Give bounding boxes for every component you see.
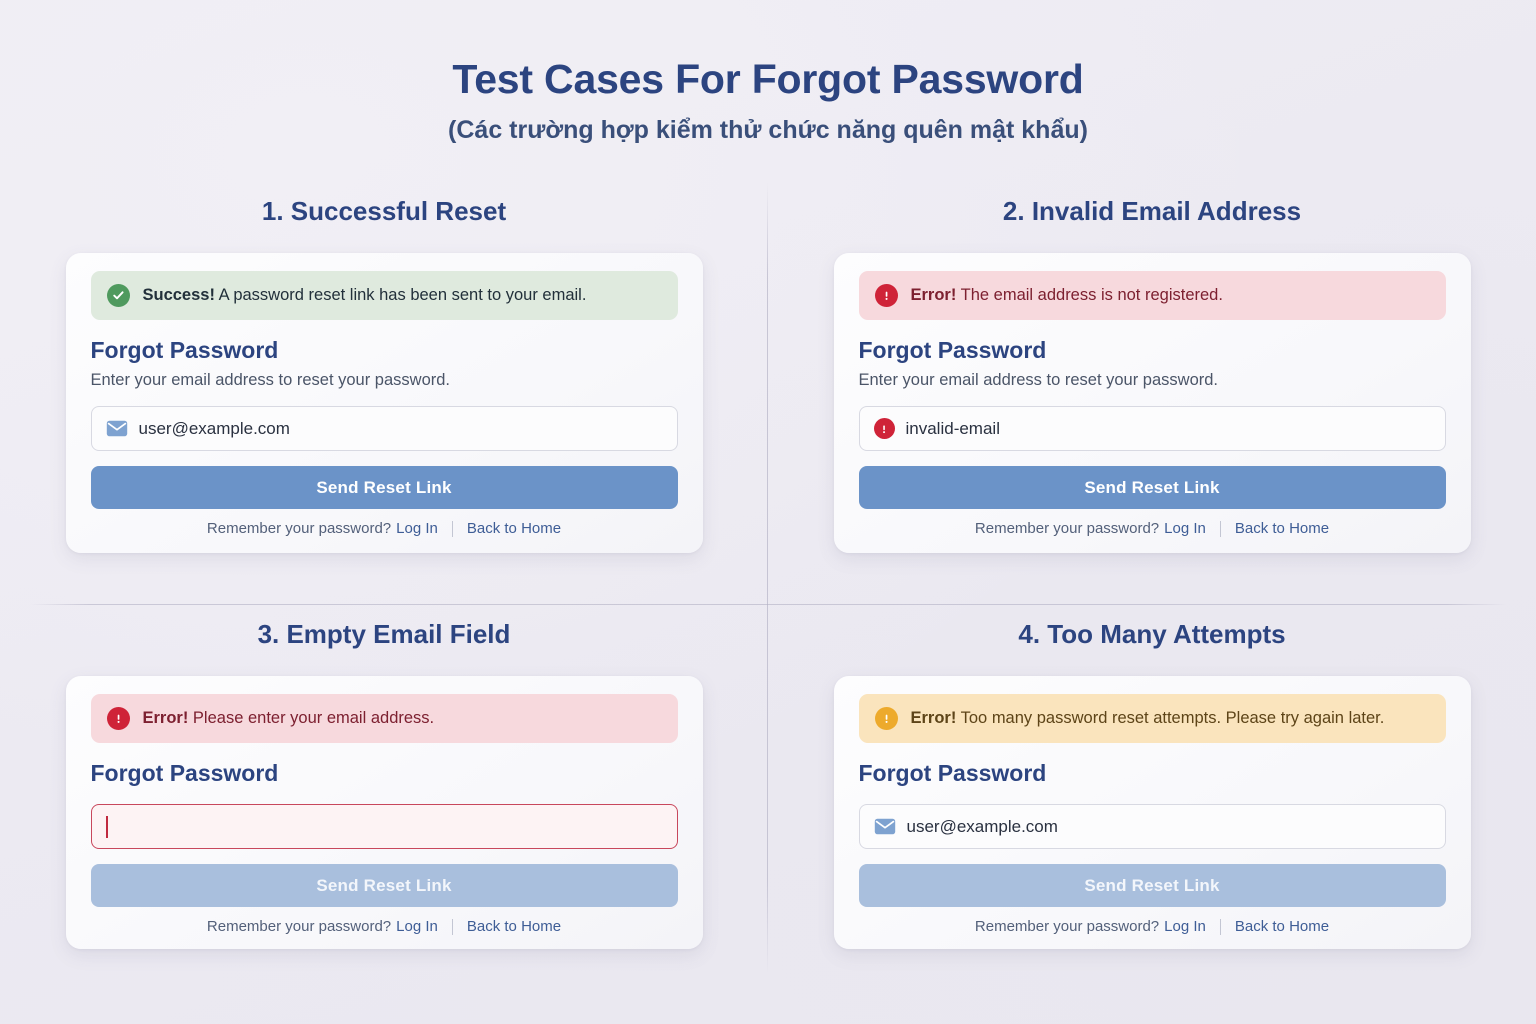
alert-lead: Error! — [143, 709, 189, 727]
login-link[interactable]: Log In — [396, 520, 438, 537]
login-link[interactable]: Log In — [1164, 918, 1206, 935]
back-to-home-link[interactable]: Back to Home — [1235, 520, 1329, 537]
check-circle-icon — [107, 284, 130, 307]
alert-text: Too many password reset attempts. Please… — [956, 709, 1384, 727]
form-title: Forgot Password — [859, 760, 1446, 787]
alert-text: A password reset link has been sent to y… — [215, 286, 586, 304]
alert-text: Please enter your email address. — [188, 709, 434, 727]
alert-text: The email address is not registered. — [956, 286, 1223, 304]
send-reset-link-button[interactable]: Send Reset Link — [91, 466, 678, 509]
footer-question: Remember your password? — [975, 918, 1159, 935]
footer-separator — [452, 919, 453, 935]
email-input-value: invalid-email — [906, 419, 1000, 439]
panel-invalid-email: 2. Invalid Email Address Error! The emai… — [768, 182, 1536, 605]
footer-separator — [1220, 919, 1221, 935]
panel-successful-reset: 1. Successful Reset Success! A password … — [0, 182, 768, 605]
email-input[interactable] — [91, 804, 678, 849]
panel-title: 3. Empty Email Field — [0, 605, 768, 650]
page-subtitle: (Các trường hợp kiểm thử chức năng quên … — [0, 116, 1536, 145]
login-link[interactable]: Log In — [1164, 520, 1206, 537]
page-header: Test Cases For Forgot Password (Các trườ… — [0, 0, 1536, 145]
send-reset-link-button[interactable]: Send Reset Link — [859, 466, 1446, 509]
alert-lead: Error! — [911, 709, 957, 727]
panel-title: 1. Successful Reset — [0, 182, 768, 227]
email-input[interactable]: user@example.com — [859, 804, 1446, 849]
login-link[interactable]: Log In — [396, 918, 438, 935]
page-title: Test Cases For Forgot Password — [0, 56, 1536, 103]
error-alert: Error! The email address is not register… — [859, 271, 1446, 320]
footer-question: Remember your password? — [207, 918, 391, 935]
forgot-password-card: Error! Too many password reset attempts.… — [834, 676, 1471, 949]
exclamation-circle-icon — [107, 707, 130, 730]
envelope-icon — [106, 420, 128, 437]
back-to-home-link[interactable]: Back to Home — [1235, 918, 1329, 935]
form-description: Enter your email address to reset your p… — [91, 371, 678, 390]
card-footer: Remember your password? Log In Back to H… — [859, 520, 1446, 537]
form-title: Forgot Password — [91, 337, 678, 364]
email-input-value: user@example.com — [907, 817, 1058, 837]
send-reset-link-button[interactable]: Send Reset Link — [859, 864, 1446, 907]
footer-separator — [452, 521, 453, 537]
alert-message: Success! A password reset link has been … — [143, 285, 587, 306]
footer-separator — [1220, 521, 1221, 537]
form-title: Forgot Password — [859, 337, 1446, 364]
panel-title: 4. Too Many Attempts — [768, 605, 1536, 650]
forgot-password-card: Success! A password reset link has been … — [66, 253, 703, 553]
email-input[interactable]: invalid-email — [859, 406, 1446, 451]
card-footer: Remember your password? Log In Back to H… — [91, 918, 678, 935]
footer-question: Remember your password? — [207, 520, 391, 537]
panel-too-many-attempts: 4. Too Many Attempts Error! Too many pas… — [768, 605, 1536, 1005]
warning-alert: Error! Too many password reset attempts.… — [859, 694, 1446, 743]
success-alert: Success! A password reset link has been … — [91, 271, 678, 320]
exclamation-circle-icon — [874, 418, 895, 439]
alert-message: Error! The email address is not register… — [911, 285, 1223, 306]
alert-message: Error! Too many password reset attempts.… — [911, 708, 1385, 729]
panel-empty-email: 3. Empty Email Field Error! Please enter… — [0, 605, 768, 1005]
email-input-value: user@example.com — [139, 419, 290, 439]
error-alert: Error! Please enter your email address. — [91, 694, 678, 743]
panel-title: 2. Invalid Email Address — [768, 182, 1536, 227]
alert-message: Error! Please enter your email address. — [143, 708, 435, 729]
form-description: Enter your email address to reset your p… — [859, 371, 1446, 390]
forgot-password-card: Error! Please enter your email address. … — [66, 676, 703, 949]
card-footer: Remember your password? Log In Back to H… — [91, 520, 678, 537]
panels-grid: 1. Successful Reset Success! A password … — [0, 182, 1536, 1005]
back-to-home-link[interactable]: Back to Home — [467, 918, 561, 935]
footer-question: Remember your password? — [975, 520, 1159, 537]
card-footer: Remember your password? Log In Back to H… — [859, 918, 1446, 935]
send-reset-link-button[interactable]: Send Reset Link — [91, 864, 678, 907]
back-to-home-link[interactable]: Back to Home — [467, 520, 561, 537]
exclamation-circle-icon — [875, 284, 898, 307]
form-title: Forgot Password — [91, 760, 678, 787]
envelope-icon — [874, 818, 896, 835]
alert-lead: Success! — [143, 286, 215, 304]
exclamation-circle-icon — [875, 707, 898, 730]
alert-lead: Error! — [911, 286, 957, 304]
text-caret — [106, 816, 108, 838]
forgot-password-card: Error! The email address is not register… — [834, 253, 1471, 553]
email-input[interactable]: user@example.com — [91, 406, 678, 451]
